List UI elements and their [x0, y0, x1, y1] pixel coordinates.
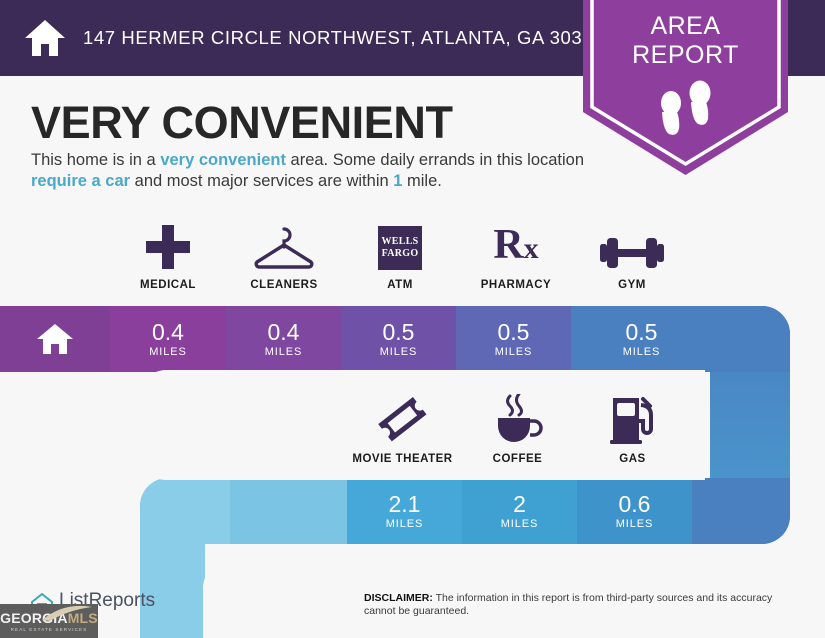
mls-tagline: REAL ESTATE SERVICES: [11, 627, 88, 632]
amenity-gym[interactable]: GYM: [574, 222, 690, 291]
bar2-lead-2: [230, 478, 347, 544]
amenity-atm[interactable]: WELLSFARGO ATM: [342, 222, 458, 291]
desc-part1: This home is in a: [31, 151, 160, 169]
georgia-mls-logo: GEORGIAMLS REAL ESTATE SERVICES: [0, 604, 98, 638]
home-origin-segment: [0, 306, 110, 372]
bar2-lead-1: [140, 478, 230, 544]
wells-fargo-icon: WELLSFARGO: [378, 222, 422, 270]
area-report-badge: AREA REPORT: [583, 0, 788, 175]
desc-highlight-convenience: very convenient: [160, 151, 286, 169]
prescription-rx-icon: Rx: [493, 222, 538, 270]
amenity-coffee[interactable]: COFFEE: [460, 396, 575, 465]
dumbbell-icon: [600, 222, 664, 270]
distance-segment-cleaners: 0.4 MILES: [226, 306, 341, 372]
medical-cross-icon: [145, 222, 191, 270]
badge-title: AREA REPORT: [583, 12, 788, 70]
distance-segment-gas: 0.6 MILES: [577, 478, 692, 544]
distance-bar-row-2: 2.1 MILES 2 MILES 0.6 MILES: [140, 478, 790, 544]
desc-part2: area. Some daily errands in this locatio…: [286, 151, 584, 169]
gas-pump-icon: [609, 396, 657, 444]
amenity-icon-row-2: MOVIE THEATER COFFEE: [345, 396, 690, 465]
area-report-page: 147 HERMER CIRCLE NORTHWEST, ATLANTA, GA…: [0, 0, 825, 638]
clothes-hanger-icon: [253, 222, 315, 270]
bar2-tail: [692, 478, 790, 544]
home-icon: [36, 322, 74, 356]
amenity-gas[interactable]: GAS: [575, 396, 690, 465]
distance-segment-medical: 0.4 MILES: [110, 306, 226, 372]
home-icon: [24, 18, 66, 58]
distance-segment-gym: 0.5 MILES: [571, 306, 790, 372]
mls-swoosh-icon: [42, 604, 94, 621]
amenity-cleaners[interactable]: CLEANERS: [226, 222, 342, 291]
amenity-medical[interactable]: MEDICAL: [110, 222, 226, 291]
disclaimer-label: DISCLAIMER:: [364, 592, 433, 604]
desc-part3: and most major services are within: [130, 172, 393, 190]
distance-segment-pharmacy: 0.5 MILES: [456, 306, 571, 372]
distance-segment-coffee: 2 MILES: [462, 478, 577, 544]
movie-ticket-icon: [377, 396, 429, 444]
amenity-pharmacy[interactable]: Rx PHARMACY: [458, 222, 574, 291]
description-text: This home is in a very convenient area. …: [31, 150, 591, 192]
distance-bar-row-1: 0.4 MILES 0.4 MILES 0.5 MILES 0.5 MILES …: [0, 306, 790, 372]
coffee-cup-icon: [492, 396, 544, 444]
distance-segment-atm: 0.5 MILES: [341, 306, 456, 372]
distance-segment-movie-theater: 2.1 MILES: [347, 478, 462, 544]
amenity-movie-theater[interactable]: MOVIE THEATER: [345, 396, 460, 465]
desc-highlight-transport: require a car: [31, 172, 130, 190]
amenity-icon-row-1: MEDICAL CLEANERS WELLSFARGO ATM Rx PHARM…: [110, 222, 690, 291]
desc-part4: mile.: [402, 172, 441, 190]
property-address: 147 HERMER CIRCLE NORTHWEST, ATLANTA, GA…: [83, 27, 603, 49]
disclaimer: DISCLAIMER: The information in this repo…: [364, 592, 794, 618]
page-title: VERY CONVENIENT: [31, 97, 453, 149]
